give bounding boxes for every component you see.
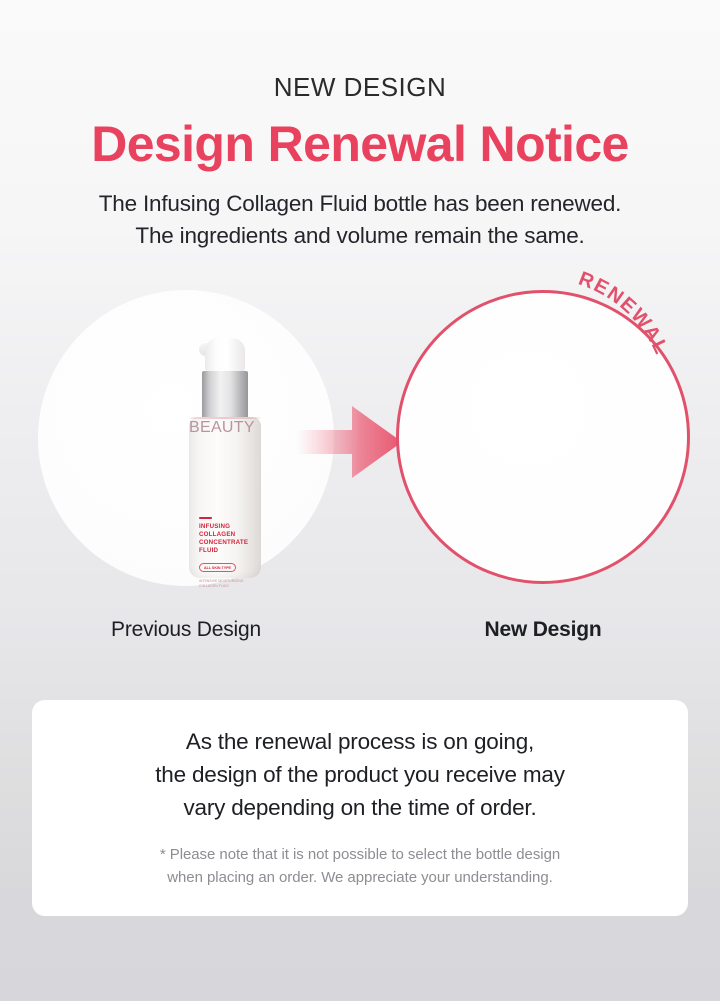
previous-design-circle: INFUSING COLLAGEN CONCENTRATE FLUID ALL …	[38, 290, 334, 586]
notice-main-line-3: vary depending on the time of order.	[32, 791, 688, 824]
page-header: NEW DESIGN Design Renewal Notice The Inf…	[0, 0, 720, 252]
label-name-line-4: FLUID	[199, 547, 257, 555]
label-brand-mark: BEAUTY	[189, 419, 261, 437]
subcopy-line-2: The ingredients and volume remain the sa…	[0, 220, 720, 252]
label-fine-line-2: COLLAGEN FLUID	[199, 584, 257, 589]
notice-disclaimer: * Please note that it is not possible to…	[32, 844, 688, 889]
bottle-collar	[202, 371, 248, 419]
notice-note-line-2: when placing an order. We appreciate you…	[32, 867, 688, 890]
label-name-line-3: CONCENTRATE	[199, 539, 257, 547]
design-captions: Previous Design New Design	[0, 618, 720, 662]
pump-cap	[205, 338, 245, 372]
page-title: Design Renewal Notice	[0, 116, 720, 172]
caption-new-design: New Design	[396, 618, 690, 642]
previous-bottle-label: INFUSING COLLAGEN CONCENTRATE FLUID ALL …	[199, 517, 257, 589]
new-design-circle: INFUSING COLLAGEN CONCENTRATE FLUID ALL …	[396, 290, 690, 584]
label-name-line-2: COLLAGEN	[199, 531, 257, 539]
label-accent-bar	[199, 517, 212, 519]
caption-previous-design: Previous Design	[38, 618, 334, 642]
label-skin-type-badge: ALL SKIN TYPE	[199, 563, 236, 571]
eyebrow-label: NEW DESIGN	[0, 74, 720, 100]
notice-main-line-2: the design of the product you receive ma…	[32, 758, 688, 791]
label-product-name: INFUSING COLLAGEN CONCENTRATE FLUID	[199, 523, 257, 556]
arrow-right-icon	[296, 404, 402, 480]
notice-card: As the renewal process is on going, the …	[32, 700, 688, 916]
subcopy-line-1: The Infusing Collagen Fluid bottle has b…	[0, 188, 720, 220]
page-subcopy: The Infusing Collagen Fluid bottle has b…	[0, 188, 720, 252]
notice-note-line-1: * Please note that it is not possible to…	[32, 844, 688, 867]
comparison-stage: INFUSING COLLAGEN CONCENTRATE FLUID ALL …	[0, 276, 720, 616]
notice-main-text: As the renewal process is on going, the …	[32, 725, 688, 824]
label-name-line-1: INFUSING	[199, 523, 257, 531]
notice-main-line-1: As the renewal process is on going,	[32, 725, 688, 758]
previous-design-bottle: INFUSING COLLAGEN CONCENTRATE FLUID ALL …	[189, 338, 261, 578]
bottle-body: INFUSING COLLAGEN CONCENTRATE FLUID ALL …	[189, 417, 261, 578]
certification-seal-icon	[189, 417, 261, 419]
label-fine-print: INTENSIVE MOISTURIZING COLLAGEN FLUID	[199, 579, 257, 589]
